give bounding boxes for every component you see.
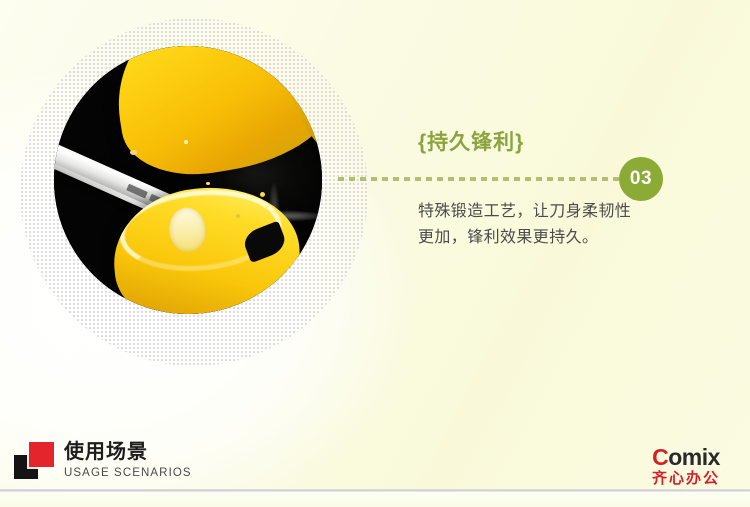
overlapping-squares-mark xyxy=(14,441,54,481)
comix-brand-logo: Comix 齐心办公 xyxy=(634,446,738,486)
feature-body-text: 特殊锻造工艺，让刀身柔韧性更加，锋利效果更持久。 xyxy=(418,199,642,251)
square-red-icon xyxy=(29,442,54,467)
fruit-speck xyxy=(184,140,188,144)
fruit-speck xyxy=(206,182,210,185)
fruit-speck xyxy=(236,214,240,218)
fruit-speck xyxy=(130,150,137,155)
brand-name-cn: 齐心办公 xyxy=(634,471,738,486)
feature-text-block: {持久锋利} 特殊锻造工艺，让刀身柔韧性更加，锋利效果更持久。 xyxy=(418,130,678,251)
brand-initial: C xyxy=(652,444,668,470)
mango-upper-skin xyxy=(275,46,322,158)
footer-title-cn: 使用场景 xyxy=(64,441,192,464)
feature-headline: {持久锋利} xyxy=(418,130,678,155)
footer-section-label: 使用场景 USAGE SCENARIOS xyxy=(14,441,192,481)
fruit-speck xyxy=(260,192,265,197)
knife-slicing-mango-photo xyxy=(54,46,322,314)
brand-wordmark-rest: omix xyxy=(668,444,720,470)
slide-canvas: 03 {持久锋利} 特殊锻造工艺，让刀身柔韧性更加，锋利效果更持久。 使用场景 … xyxy=(0,0,750,507)
footer-title-en: USAGE SCENARIOS xyxy=(64,467,192,479)
footer-base-strip xyxy=(0,492,750,507)
product-photo-area xyxy=(20,18,380,378)
brand-wordmark: Comix xyxy=(634,446,738,469)
